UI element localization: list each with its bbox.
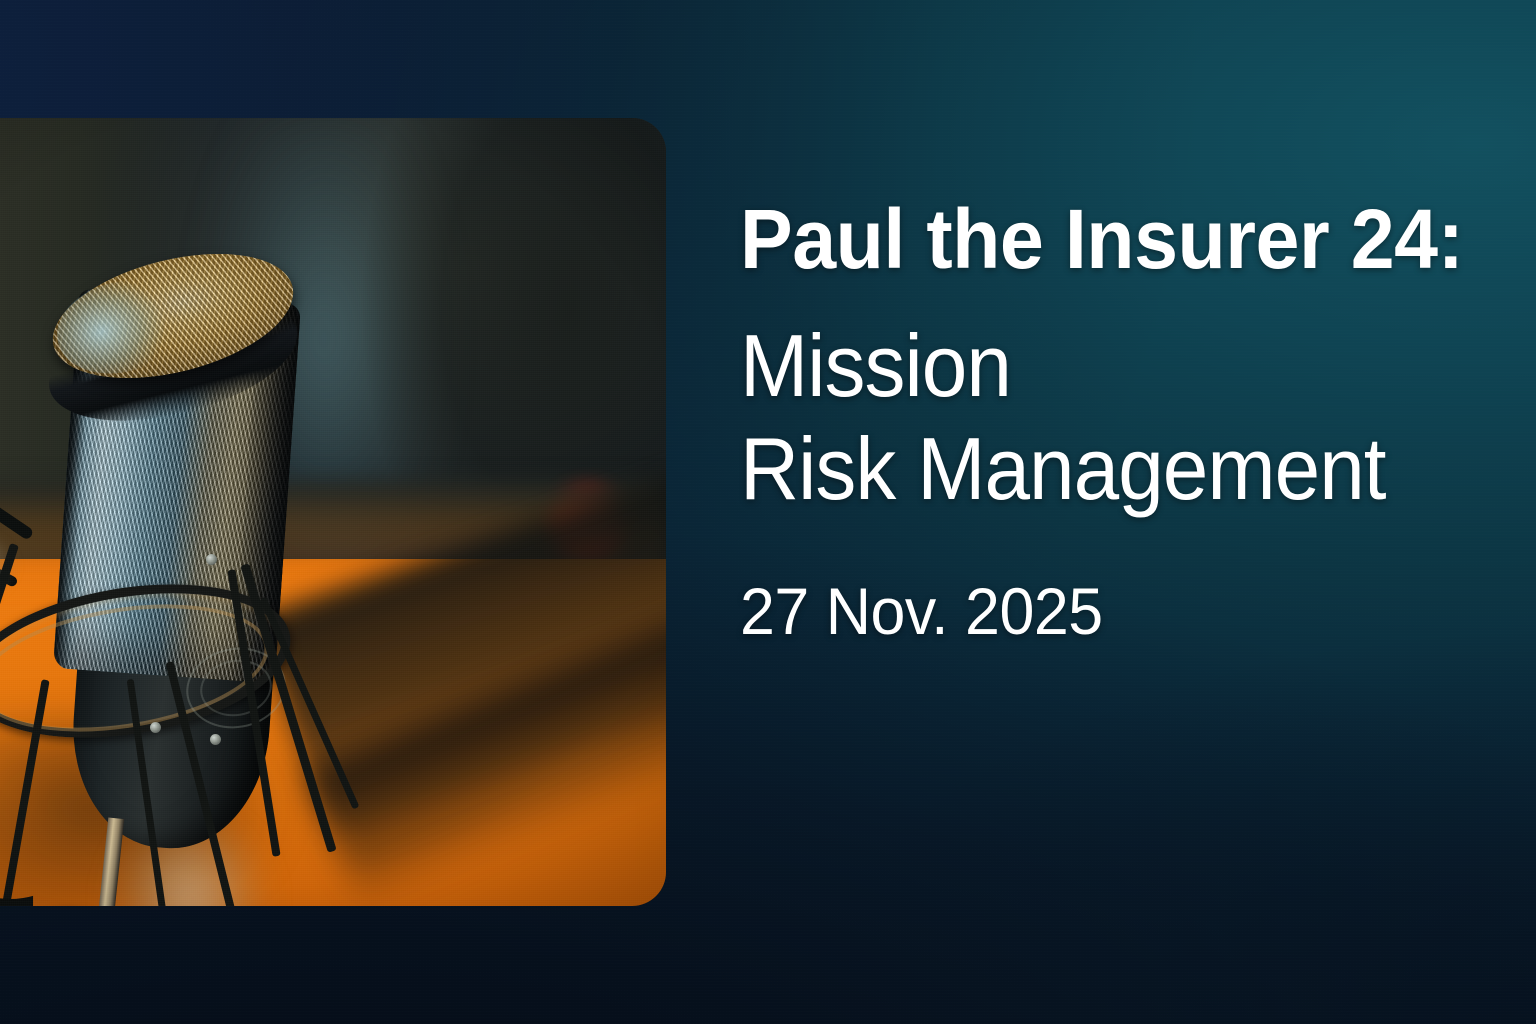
microphone-assembly — [0, 118, 666, 906]
episode-text-block: Paul the Insurer 24: Mission Risk Manage… — [740, 196, 1480, 648]
episode-subtitle-line-1: Mission — [740, 315, 1428, 418]
stand-adjust-knob — [31, 904, 101, 906]
mount-screw-3 — [206, 554, 217, 565]
mount-screw-2 — [210, 734, 221, 745]
episode-title-card: Paul the Insurer 24: Mission Risk Manage… — [0, 0, 1536, 1024]
shock-mount-arm-far-left — [0, 447, 35, 541]
episode-subtitle: Mission Risk Management — [740, 315, 1428, 521]
microphone-photo — [0, 118, 666, 906]
microphone-artwork-panel — [0, 118, 666, 906]
mount-screw-1 — [150, 722, 161, 733]
episode-subtitle-line-2: Risk Management — [740, 418, 1428, 521]
microphone-stem — [96, 817, 124, 906]
episode-title: Paul the Insurer 24: — [740, 196, 1436, 283]
episode-date: 27 Nov. 2025 — [740, 575, 1443, 648]
